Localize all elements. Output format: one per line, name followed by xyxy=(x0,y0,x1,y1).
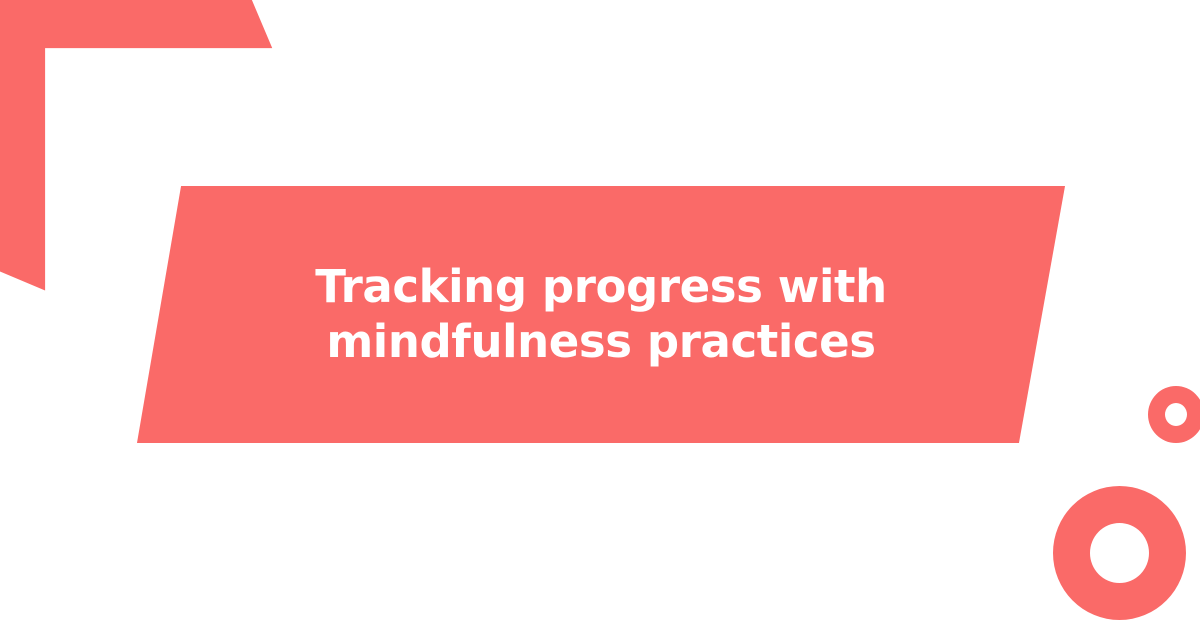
title-banner-text-container: Tracking progress with mindfulness pract… xyxy=(130,184,1072,445)
page-title: Tracking progress with mindfulness pract… xyxy=(291,260,911,370)
ring-small-decoration xyxy=(1148,386,1200,443)
poster-canvas: Tracking progress with mindfulness pract… xyxy=(0,0,1200,630)
ring-large-decoration xyxy=(1053,486,1186,620)
